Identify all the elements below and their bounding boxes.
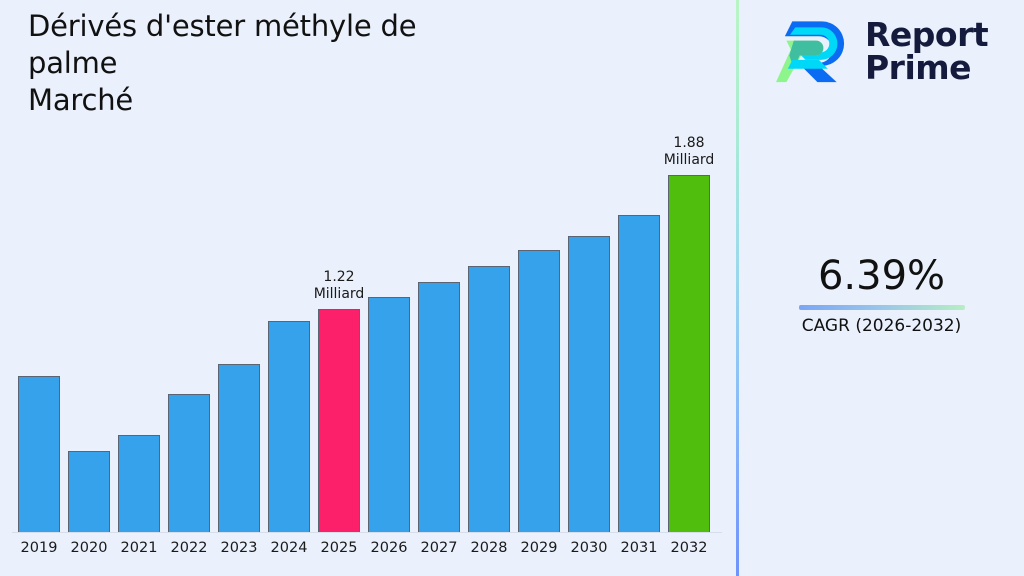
bar-group — [618, 215, 660, 532]
bar-group — [368, 297, 410, 532]
cagr-value: 6.39% — [739, 253, 1024, 299]
bar-2019[interactable] — [18, 376, 60, 532]
bar-2032[interactable] — [668, 175, 710, 532]
brand-name: Report Prime — [865, 18, 988, 84]
bar-2020[interactable] — [68, 451, 110, 532]
bar-2029[interactable] — [518, 250, 560, 532]
x-axis-tick-2025: 2025 — [312, 540, 366, 556]
x-axis-tick-2022: 2022 — [162, 540, 216, 556]
brand-name-line2: Prime — [865, 51, 988, 84]
x-axis-tick-2019: 2019 — [12, 540, 66, 556]
cagr-divider — [799, 305, 965, 310]
bar-group — [68, 451, 110, 532]
bar-value-label-2032: 1.88Milliard — [644, 135, 734, 169]
brand-panel: Report Prime 6.39% CAGR (2026-2032) — [739, 0, 1024, 576]
infographic-root: Dérivés d'ester méthyle de palme Marché … — [0, 0, 1024, 576]
brand-logo: Report Prime — [775, 14, 988, 88]
cagr-caption: CAGR (2026-2032) — [739, 315, 1024, 337]
x-axis-tick-2029: 2029 — [512, 540, 566, 556]
bar-group — [168, 394, 210, 532]
x-axis-tick-2021: 2021 — [112, 540, 166, 556]
bar-2028[interactable] — [468, 266, 510, 532]
bar-value-number: 1.88 — [644, 135, 734, 152]
bar-group — [268, 321, 310, 532]
x-axis-tick-2027: 2027 — [412, 540, 466, 556]
x-axis-tick-2032: 2032 — [662, 540, 716, 556]
x-axis-tick-2020: 2020 — [62, 540, 116, 556]
bar-group — [18, 376, 60, 532]
x-axis-tick-2030: 2030 — [562, 540, 616, 556]
bar-group — [568, 236, 610, 532]
brand-name-line1: Report — [865, 18, 988, 51]
bar-2025[interactable] — [318, 309, 360, 532]
x-axis-tick-2026: 2026 — [362, 540, 416, 556]
x-axis-tick-2028: 2028 — [462, 540, 516, 556]
bar-group — [118, 435, 160, 532]
bar-group: 1.22Milliard — [318, 309, 360, 532]
bar-value-unit: Milliard — [644, 152, 734, 169]
cagr-block: 6.39% CAGR (2026-2032) — [739, 253, 1024, 337]
bar-group — [218, 364, 260, 532]
chart-baseline — [12, 532, 722, 533]
bar-2031[interactable] — [618, 215, 660, 532]
x-axis-tick-2024: 2024 — [262, 540, 316, 556]
bar-group — [468, 266, 510, 532]
bar-group — [518, 250, 560, 532]
x-axis-tick-2031: 2031 — [612, 540, 666, 556]
bar-2023[interactable] — [218, 364, 260, 532]
bar-2027[interactable] — [418, 282, 460, 532]
bar-chart: 2019202020212022202320241.22Milliard2025… — [0, 0, 737, 576]
chart-panel: Dérivés d'ester méthyle de palme Marché … — [0, 0, 737, 576]
bar-2022[interactable] — [168, 394, 210, 532]
bar-2021[interactable] — [118, 435, 160, 532]
bar-group — [418, 282, 460, 532]
bar-value-number: 1.22 — [294, 269, 384, 286]
bar-group: 1.88Milliard — [668, 175, 710, 532]
report-prime-logo-icon — [775, 14, 851, 88]
bar-2024[interactable] — [268, 321, 310, 532]
bar-2026[interactable] — [368, 297, 410, 532]
bar-2030[interactable] — [568, 236, 610, 532]
x-axis-tick-2023: 2023 — [212, 540, 266, 556]
